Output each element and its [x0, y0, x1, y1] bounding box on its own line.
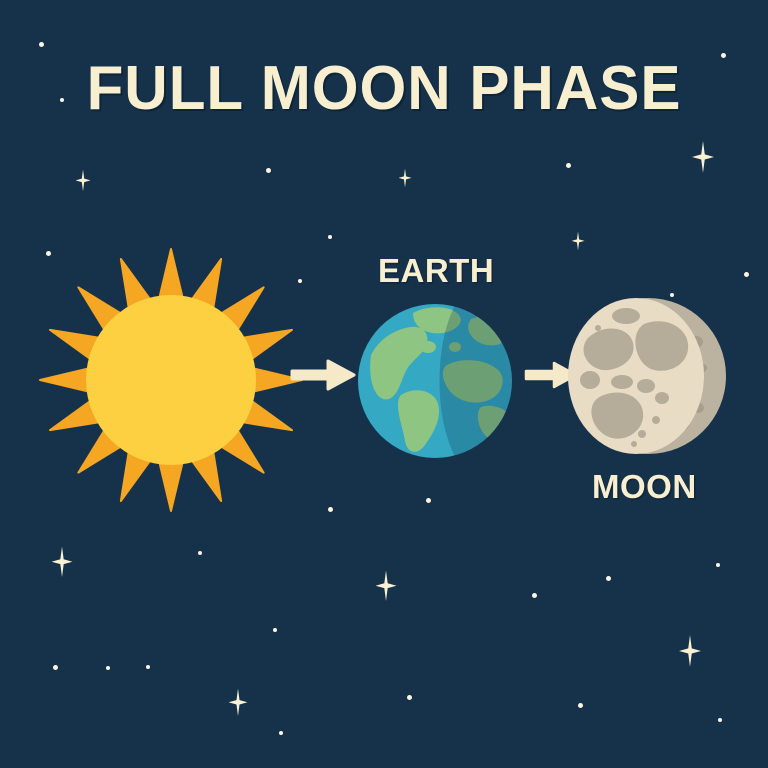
star-dot	[532, 593, 537, 598]
arrow-sun-to-earth-icon	[290, 358, 356, 392]
star-dot	[328, 507, 333, 512]
star-dot	[606, 576, 611, 581]
star-dot	[578, 703, 583, 708]
star-dot	[566, 163, 571, 168]
moon-illustration	[568, 294, 728, 458]
earth-illustration	[355, 303, 515, 459]
star-dot	[39, 42, 44, 47]
earth-terminator-shadow	[440, 303, 516, 459]
star-dot	[744, 272, 749, 277]
star-dot	[407, 695, 412, 700]
sun-core	[86, 295, 256, 465]
star-dot	[53, 665, 58, 670]
star-dot	[426, 498, 431, 503]
star-dot	[273, 628, 277, 632]
star-dot	[198, 551, 202, 555]
star-dot	[328, 235, 332, 239]
star-dot	[721, 53, 726, 58]
star-dot	[716, 563, 720, 567]
star-dot	[279, 731, 283, 735]
star-dot	[266, 168, 271, 173]
star-dot	[106, 666, 110, 670]
page-title: FULL MOON PHASE	[12, 58, 757, 120]
earth-label: EARTH	[378, 252, 494, 290]
star-dot	[146, 665, 150, 669]
full-moon-phase-diagram: FULL MOON PHASE	[0, 0, 768, 768]
moon-label: MOON	[592, 468, 697, 506]
star-dot	[718, 718, 722, 722]
sun-illustration	[36, 245, 306, 515]
